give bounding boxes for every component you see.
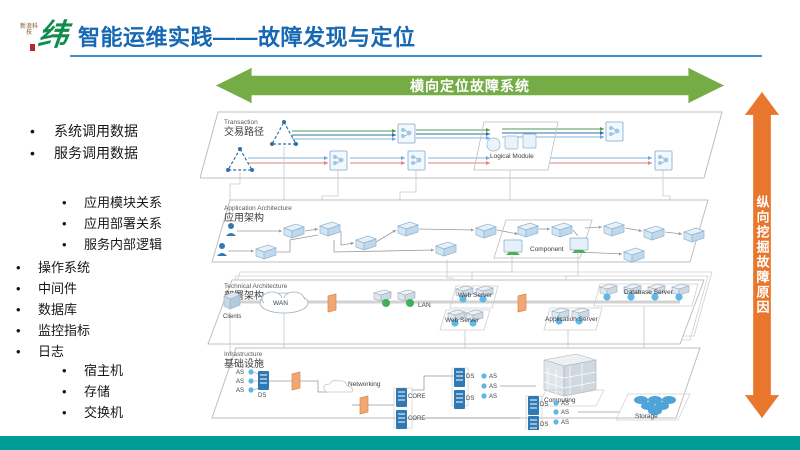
svg-text:DS: DS [540, 422, 548, 428]
switch-icon [528, 396, 539, 415]
svg-text:CORE: CORE [408, 416, 425, 422]
diagram-layer-infrastructure: Infrastructure 基础设施 AS AS AS DS Networki… [212, 348, 700, 430]
list-item: 日志 [16, 341, 90, 362]
switch-icon [258, 371, 269, 390]
logo-brush-glyph: 纬 [36, 18, 70, 54]
svg-text:AS: AS [236, 379, 244, 385]
switch-icon [454, 390, 465, 409]
svg-text:交易路径: 交易路径 [224, 125, 264, 138]
slide-root: 新浪科技 纬 智能运维实践——故障发现与定位 横向定位故障系统 纵向挖掘故障原因… [0, 0, 800, 450]
svg-text:Web Server: Web Server [445, 317, 480, 324]
core-switch-icon [396, 410, 407, 429]
svg-text:AS: AS [489, 374, 497, 380]
svg-text:AS: AS [489, 394, 497, 400]
list-item: 服务调用数据 [30, 142, 138, 164]
switch-icon [528, 416, 539, 430]
svg-text:AS: AS [236, 388, 244, 394]
svg-text:Application Server: Application Server [545, 316, 599, 323]
firewall-icon [360, 396, 368, 414]
horizontal-arrow-label: 横向定位故障系统 [216, 68, 724, 103]
svg-text:Application Architecture: Application Architecture [224, 205, 292, 212]
svg-text:DS: DS [540, 402, 548, 408]
svg-text:WAN: WAN [273, 300, 288, 307]
switch-icon [454, 368, 465, 387]
svg-text:Database Server: Database Server [624, 289, 674, 296]
firewall-icon [292, 372, 300, 390]
list-item: 操作系统 [16, 257, 90, 278]
svg-text:Technical Architecture: Technical Architecture [224, 283, 288, 290]
logical-module-icon [523, 134, 536, 148]
svg-text:应用架构: 应用架构 [224, 211, 264, 224]
list-item: 存储 [62, 381, 123, 402]
svg-text:Infrastructure: Infrastructure [224, 351, 263, 358]
logical-module-icon [505, 136, 518, 149]
svg-text:Networking: Networking [348, 381, 381, 388]
bullet-group-call-data: 系统调用数据 服务调用数据 [30, 120, 138, 164]
architecture-diagram: Transaction 交易路径 [200, 100, 740, 430]
list-item: 服务内部逻辑 [62, 234, 162, 255]
svg-text:AS: AS [561, 420, 569, 426]
brand-logo: 新浪科技 纬 [16, 16, 74, 58]
svg-text:LAN: LAN [418, 302, 431, 309]
svg-text:AS: AS [561, 401, 569, 407]
logo-red-seal-icon [30, 44, 35, 51]
svg-text:DS: DS [466, 396, 474, 402]
list-item: 监控指标 [16, 320, 90, 341]
service-node-icon [606, 122, 623, 141]
svg-text:Logical Module: Logical Module [490, 153, 534, 160]
list-item: 系统调用数据 [30, 120, 138, 142]
svg-text:DS: DS [258, 393, 266, 399]
svg-text:AS: AS [561, 410, 569, 416]
svg-text:DS: DS [466, 374, 474, 380]
service-node-icon [330, 151, 347, 170]
svg-text:AS: AS [236, 370, 244, 376]
list-item: 应用部署关系 [62, 213, 162, 234]
vertical-arrow-label-wrap: 纵向挖掘故障原因 [745, 92, 779, 418]
vertical-arrow-label: 纵向挖掘故障原因 [753, 195, 772, 315]
footer-band [0, 436, 800, 450]
bullet-group-application: 应用模块关系 应用部署关系 服务内部逻辑 [62, 192, 162, 255]
service-node-icon [408, 151, 425, 170]
list-item: 交换机 [62, 402, 123, 423]
firewall-icon [518, 294, 526, 312]
list-item: 数据库 [16, 299, 90, 320]
firewall-icon [328, 294, 336, 312]
svg-text:Clients: Clients [223, 314, 241, 320]
svg-text:基础设施: 基础设施 [224, 357, 264, 370]
svg-text:Computing: Computing [544, 397, 576, 404]
page-title: 智能运维实践——故障发现与定位 [78, 20, 416, 52]
svg-text:Web Server: Web Server [458, 292, 493, 299]
bullet-group-hardware: 宿主机 存储 交换机 [62, 360, 123, 423]
svg-text:AS: AS [489, 384, 497, 390]
list-item: 中间件 [16, 278, 90, 299]
bullet-group-system: 操作系统 中间件 数据库 监控指标 日志 [16, 257, 90, 362]
logo-seal-text: 新浪科技 [18, 24, 40, 36]
core-switch-icon [396, 388, 407, 407]
logical-module-icon [487, 138, 500, 151]
list-item: 宿主机 [62, 360, 123, 381]
svg-text:Component: Component [530, 246, 564, 253]
title-underline [70, 55, 762, 57]
diagram-layer-application-architecture: Application Architecture 应用架构 [212, 200, 708, 292]
svg-text:Transaction: Transaction [224, 119, 258, 126]
list-item: 应用模块关系 [62, 192, 162, 213]
svg-text:Storage: Storage [635, 413, 658, 420]
svg-text:CORE: CORE [408, 394, 425, 400]
service-node-icon [655, 151, 672, 170]
service-node-icon [398, 124, 415, 143]
